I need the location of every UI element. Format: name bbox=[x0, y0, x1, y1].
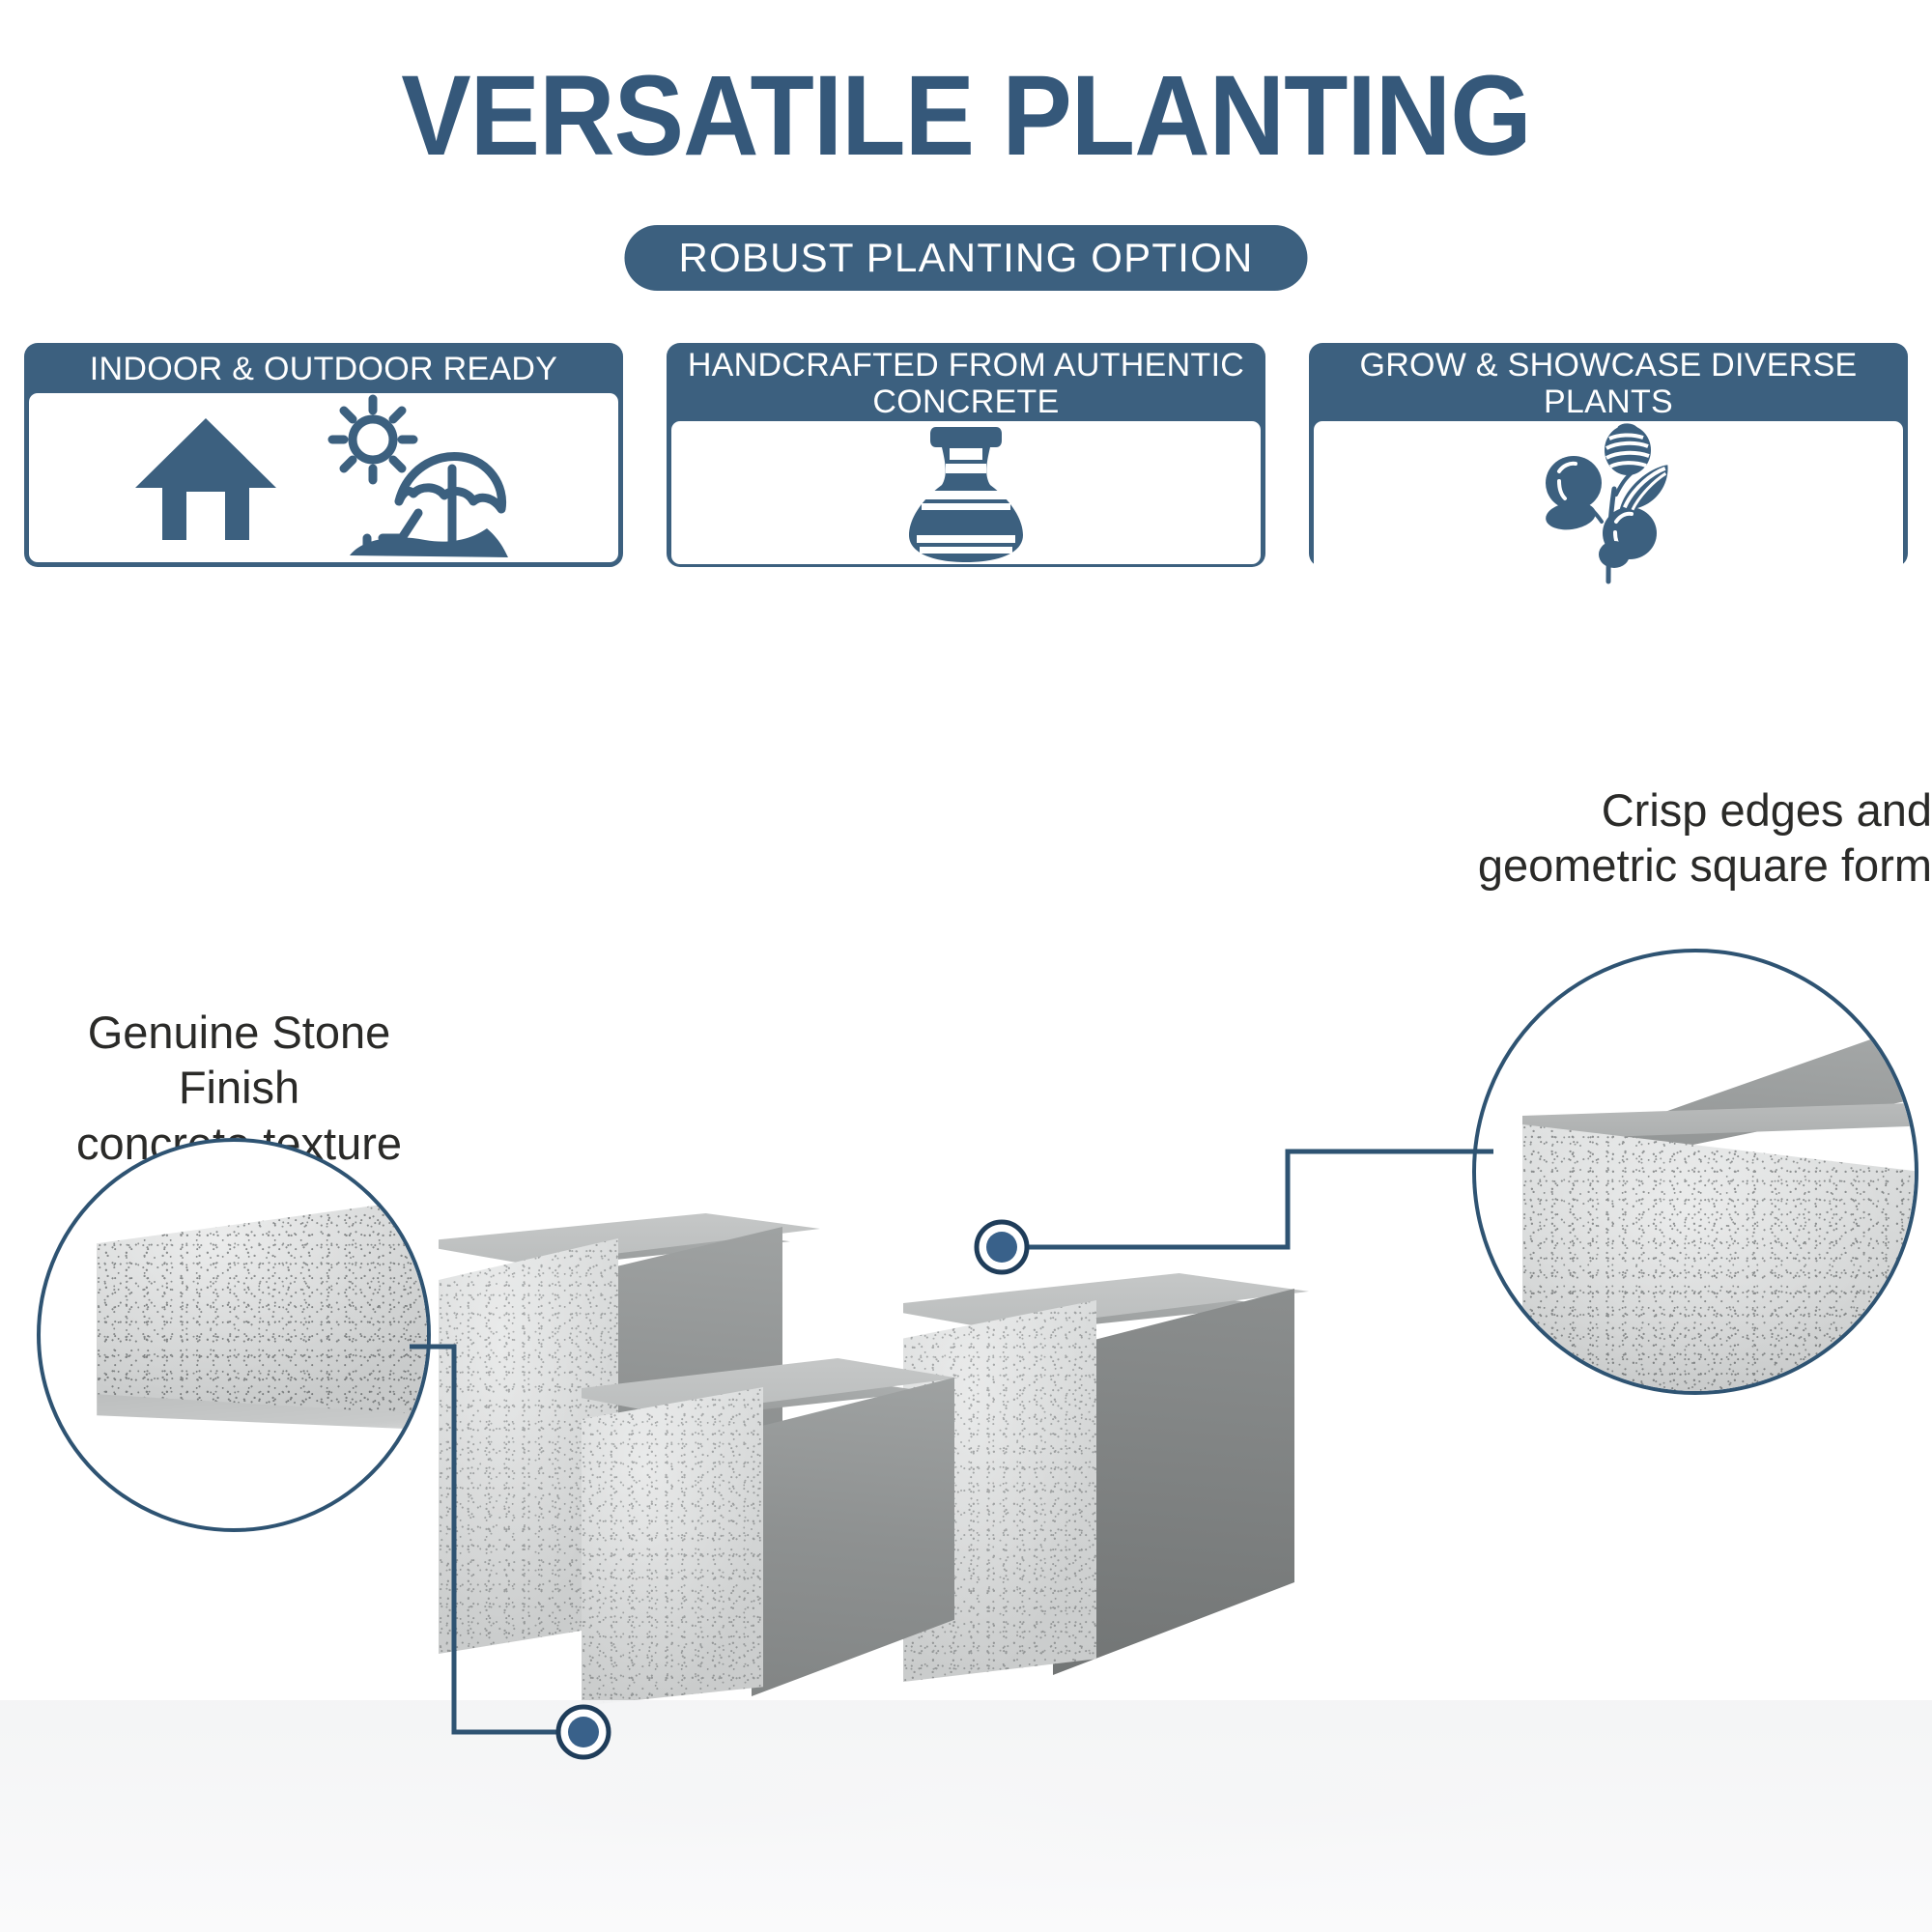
feature-card-grow-showcase: GROW & SHOWCASE DIVERSE PLANTS bbox=[1309, 343, 1908, 567]
house-icon bbox=[133, 411, 278, 546]
page-title: VERSATILE PLANTING bbox=[77, 56, 1855, 177]
feature-card-row: INDOOR & OUTDOOR READY bbox=[24, 343, 1908, 567]
feature-card-handcrafted: HANDCRAFTED FROM AUTHENTIC CONCRETE bbox=[667, 343, 1265, 567]
infographic-page: VERSATILE PLANTING ROBUST PLANTING OPTIO… bbox=[0, 0, 1932, 1932]
feature-card-body bbox=[671, 421, 1261, 564]
berry-branch-icon bbox=[1520, 421, 1698, 585]
floor-surface bbox=[0, 1700, 1932, 1932]
zoom-detail-crisp-corner bbox=[1472, 949, 1918, 1395]
subtitle-badge: ROBUST PLANTING OPTION bbox=[624, 225, 1307, 291]
vase-icon bbox=[894, 421, 1038, 564]
beach-umbrella-icon bbox=[307, 393, 515, 562]
subtitle-badge-label: ROBUST PLANTING OPTION bbox=[678, 235, 1253, 281]
planter-front-face bbox=[582, 1387, 763, 1706]
concrete-grain bbox=[582, 1387, 763, 1706]
planter-outer-wall bbox=[1522, 1124, 1918, 1395]
feature-card-body bbox=[29, 393, 618, 562]
feature-card-title: HANDCRAFTED FROM AUTHENTIC CONCRETE bbox=[681, 347, 1251, 420]
callout-label-crisp-edges: Crisp edges and geometric square form bbox=[1043, 782, 1932, 894]
feature-card-header: HANDCRAFTED FROM AUTHENTIC CONCRETE bbox=[671, 348, 1261, 421]
corner-detail bbox=[1476, 952, 1915, 1391]
concrete-grain bbox=[1522, 1124, 1918, 1395]
zoom-detail-concrete-texture bbox=[37, 1138, 431, 1532]
sun-icon bbox=[332, 399, 413, 480]
feature-card-header: INDOOR & OUTDOOR READY bbox=[29, 348, 618, 393]
feature-card-indoor-outdoor: INDOOR & OUTDOOR READY bbox=[24, 343, 623, 567]
feature-card-body bbox=[1314, 421, 1903, 585]
feature-card-header: GROW & SHOWCASE DIVERSE PLANTS bbox=[1314, 348, 1903, 421]
feature-card-title: GROW & SHOWCASE DIVERSE PLANTS bbox=[1323, 347, 1893, 420]
feature-card-title: INDOOR & OUTDOOR READY bbox=[90, 351, 558, 387]
